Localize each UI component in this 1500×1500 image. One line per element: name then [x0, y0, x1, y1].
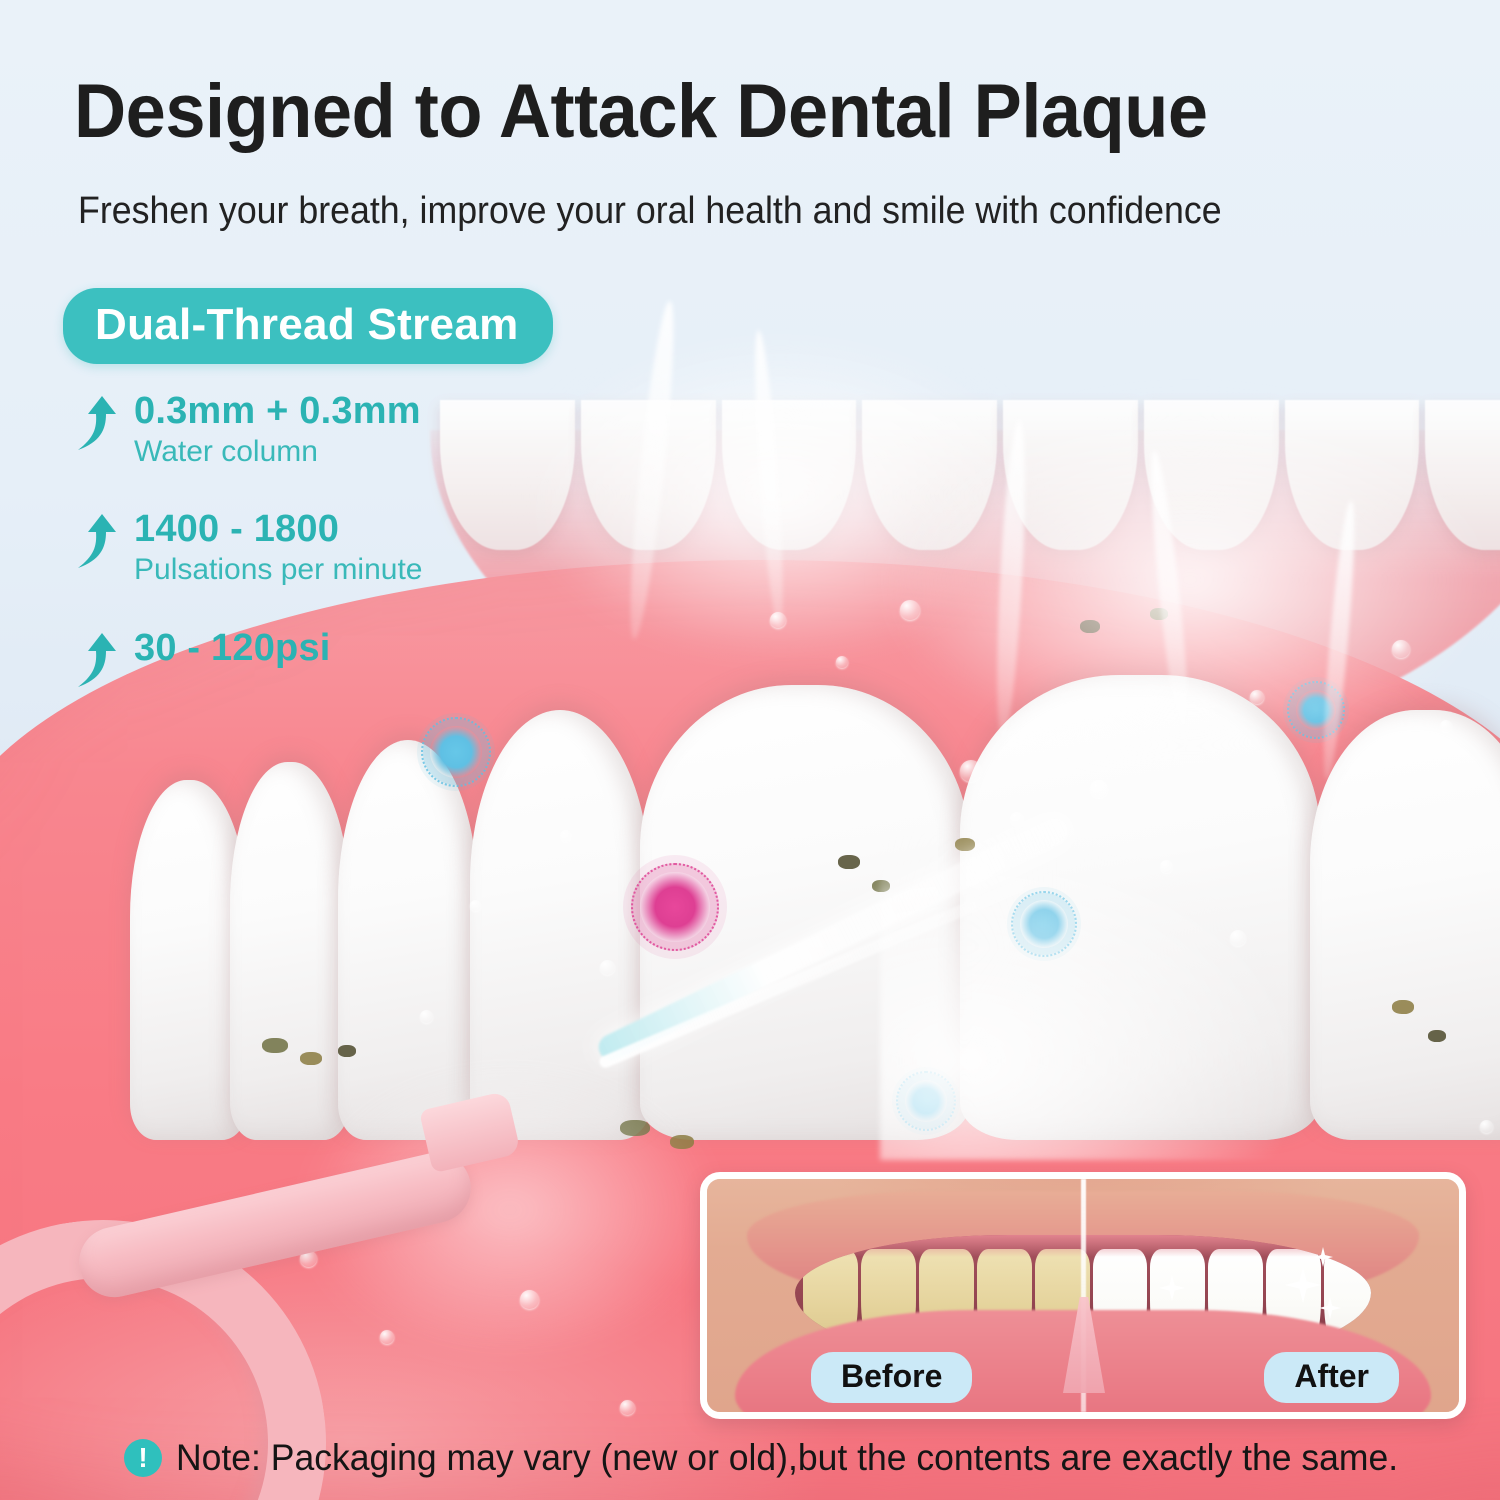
feature-value: 1400 - 1800	[134, 510, 632, 550]
before-after-inset: Before After	[700, 1172, 1466, 1419]
water-droplet	[600, 960, 615, 975]
water-droplet	[1090, 780, 1108, 798]
plaque-debris	[1428, 1030, 1446, 1042]
up-arrow-icon	[72, 512, 120, 570]
water-droplet	[470, 900, 481, 911]
feature-list: 0.3mm + 0.3mm Water column 1400 - 1800 P…	[72, 392, 632, 729]
plaque-debris	[300, 1052, 322, 1065]
feature-label: Water column	[134, 435, 632, 469]
water-droplet	[520, 1290, 539, 1309]
bacteria-marker-pink	[640, 872, 710, 942]
up-arrow-icon	[72, 631, 120, 689]
water-droplet	[1160, 860, 1173, 873]
water-droplet	[960, 760, 982, 782]
water-droplet	[836, 656, 848, 668]
feature-item-pulsations: 1400 - 1800 Pulsations per minute	[72, 510, 632, 586]
water-droplet	[420, 1010, 433, 1023]
note-bar: ! Note: Packaging may vary (new or old),…	[124, 1437, 1449, 1479]
water-droplet	[1010, 812, 1024, 826]
after-label: After	[1264, 1352, 1399, 1403]
plaque-debris	[1392, 1000, 1414, 1014]
water-droplet	[1250, 690, 1264, 704]
feature-item-pressure: 30 - 120psi	[72, 629, 632, 687]
before-label: Before	[811, 1352, 972, 1403]
water-droplet	[770, 612, 786, 628]
water-flosser-wand	[0, 1070, 440, 1500]
feature-badge: Dual-Thread Stream	[63, 288, 553, 364]
water-droplet	[1230, 930, 1246, 946]
water-droplet	[1480, 1120, 1493, 1133]
plaque-debris	[338, 1045, 356, 1057]
water-droplet	[1392, 640, 1410, 658]
water-mist	[880, 400, 1500, 760]
plaque-debris	[262, 1038, 288, 1053]
bacteria-marker-blue	[430, 726, 482, 778]
exclamation-circle-icon: !	[124, 1439, 162, 1477]
feature-value: 30 - 120psi	[134, 629, 632, 669]
water-droplet	[900, 600, 920, 620]
feature-item-water-column: 0.3mm + 0.3mm Water column	[72, 392, 632, 468]
note-text: Note: Packaging may vary (new or old),bu…	[176, 1437, 1398, 1479]
feature-value: 0.3mm + 0.3mm	[134, 392, 632, 432]
water-droplet	[1440, 720, 1452, 732]
product-feature-card: Designed to Attack Dental Plaque Freshen…	[0, 0, 1500, 1500]
water-droplet	[620, 1400, 635, 1415]
up-arrow-icon	[72, 394, 120, 452]
feature-label: Pulsations per minute	[134, 553, 632, 587]
page-title: Designed to Attack Dental Plaque	[74, 68, 1385, 155]
water-droplet	[560, 830, 572, 842]
wand-neck	[72, 1146, 477, 1304]
page-subtitle: Freshen your breath, improve your oral h…	[78, 190, 1375, 233]
plaque-debris	[838, 855, 860, 869]
